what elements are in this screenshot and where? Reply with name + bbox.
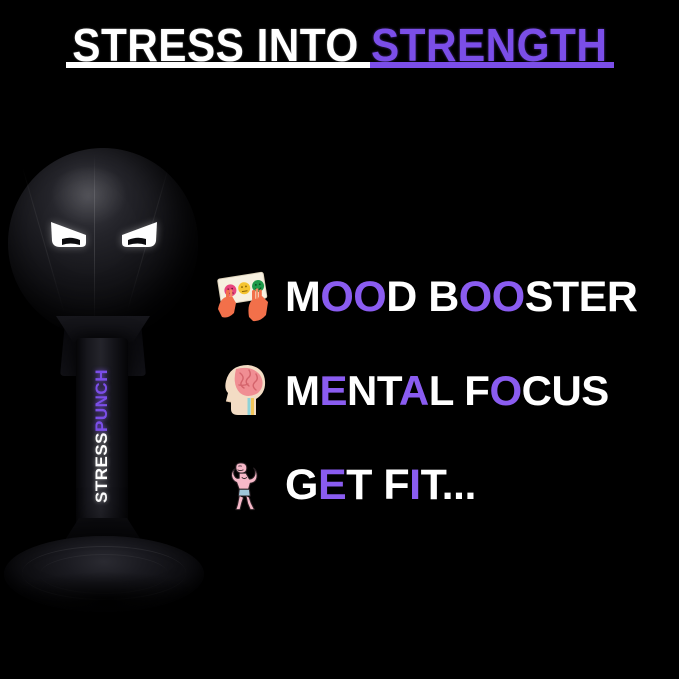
feature-seg: M <box>285 273 320 321</box>
brand-label: STRESSPUNCH <box>76 338 128 534</box>
poster-canvas: STRESS INTO STRENGTH <box>0 0 679 679</box>
feature-seg: T... <box>421 461 476 509</box>
list-item: MOOD BOOSTER <box>215 250 679 344</box>
angry-eye-right-icon <box>116 218 158 248</box>
product-image: STRESSPUNCH <box>0 120 220 600</box>
feature-seg: G <box>285 461 318 509</box>
angry-eye-left-icon <box>50 218 92 248</box>
mood-survey-card-icon <box>215 266 277 328</box>
feature-label: GET FIT... <box>285 462 476 508</box>
title-underline <box>0 62 679 70</box>
feature-seg: OO <box>320 273 386 321</box>
feature-seg: I <box>409 461 420 509</box>
brand-label-purple: PUNCH <box>92 369 111 432</box>
base-shadow <box>0 572 214 632</box>
feature-label: MENTAL FOCUS <box>285 368 609 414</box>
list-item: GET FIT... <box>215 438 679 532</box>
feature-seg: E <box>318 461 346 509</box>
brand-label-white: STRESS <box>92 432 111 503</box>
feature-seg: E <box>320 367 348 414</box>
feature-label: MOOD BOOSTER <box>285 274 637 320</box>
feature-seg: NT <box>347 367 399 414</box>
feature-list: MOOD BOOSTER <box>215 250 679 532</box>
flexing-bodybuilder-icon <box>220 459 273 512</box>
feature-seg: A <box>399 367 429 414</box>
feature-seg: CUS <box>522 367 609 414</box>
feature-seg: O <box>489 367 521 414</box>
feature-seg: OO <box>459 273 525 321</box>
underline-purple-segment <box>370 62 614 68</box>
angry-face <box>48 212 160 252</box>
feature-seg: D B <box>386 273 459 321</box>
head-with-brain-icon <box>215 360 277 422</box>
underline-white-segment <box>66 62 370 68</box>
feature-seg: STER <box>525 273 638 321</box>
list-item: MENTAL FOCUS <box>215 344 679 438</box>
feature-seg: T F <box>346 461 409 509</box>
feature-seg: L F <box>429 367 490 414</box>
brand-label-text: STRESSPUNCH <box>92 369 112 503</box>
feature-seg: M <box>285 367 320 414</box>
